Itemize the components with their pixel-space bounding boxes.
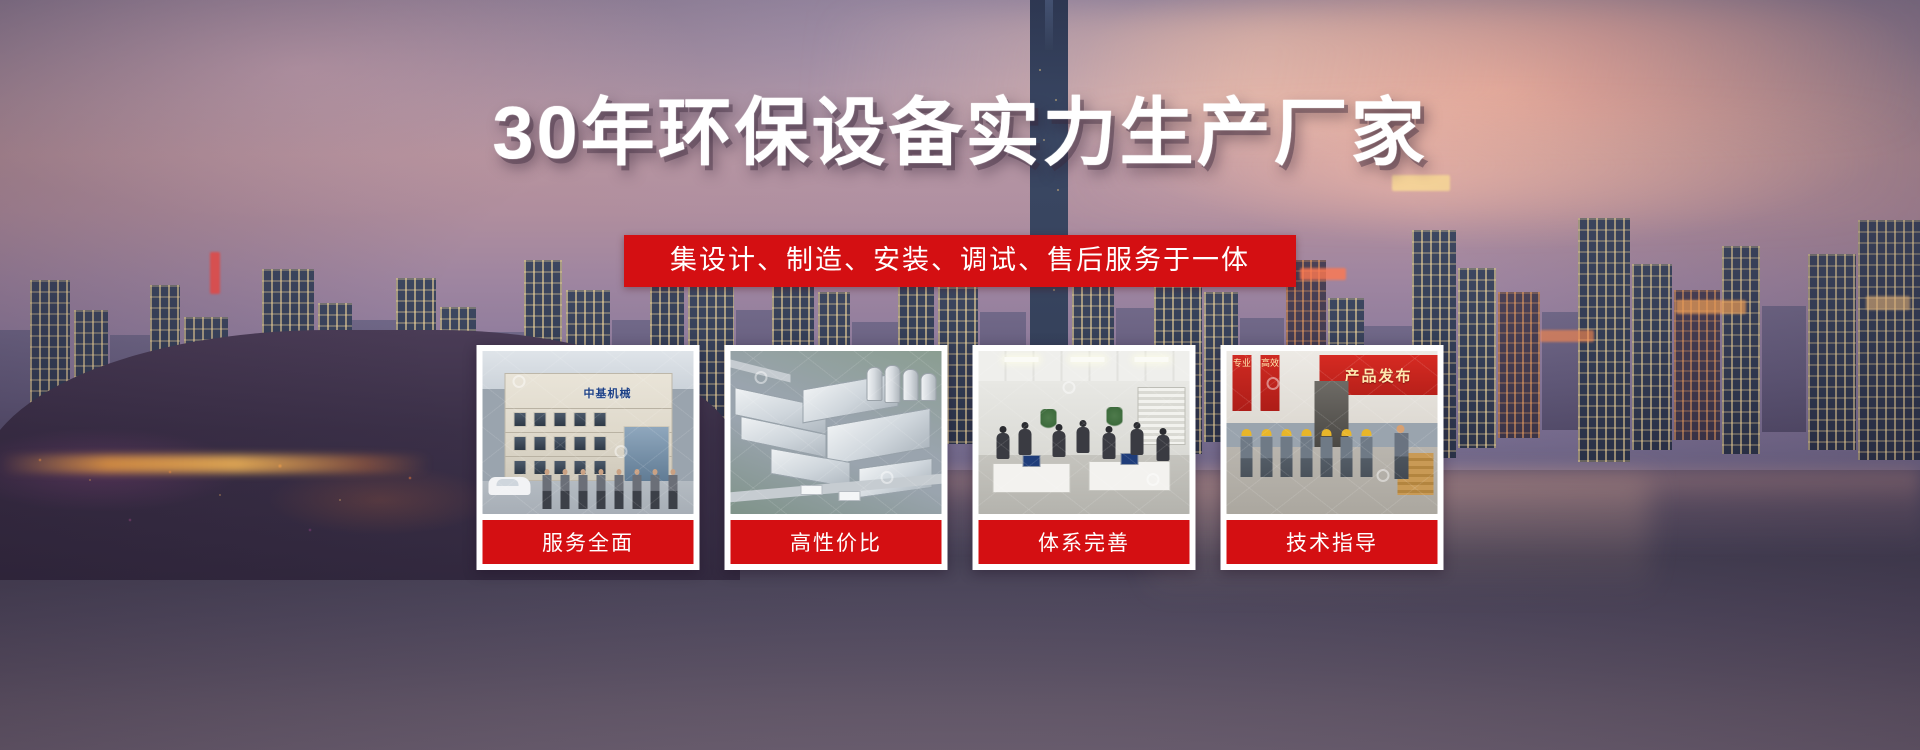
card-photo-factory-workers: 产品发布 专业 高效 — [1227, 351, 1438, 514]
bridge-lights — [0, 455, 430, 473]
vertical-banner-left: 专业 — [1233, 355, 1252, 411]
feature-card-list: 中基机械 — [477, 345, 1444, 570]
card-label-value: 高性价比 — [731, 520, 942, 564]
feature-card-service[interactable]: 中基机械 — [477, 345, 700, 570]
page-title: 30年环保设备实力生产厂家 — [0, 96, 1920, 170]
building-sign-label: 中基机械 — [562, 386, 654, 399]
vertical-banner-right: 高效 — [1261, 355, 1280, 411]
feature-card-technical[interactable]: 产品发布 专业 高效 技术指导 — [1221, 345, 1444, 570]
card-photo-aerial-plant — [731, 351, 942, 514]
feature-card-system[interactable]: 体系完善 — [973, 345, 1196, 570]
card-photo-office-meeting — [979, 351, 1190, 514]
subtitle-ribbon: 集设计、制造、安装、调试、售后服务于一体 — [624, 235, 1296, 287]
card-label-system: 体系完善 — [979, 520, 1190, 564]
hero-banner: 30年环保设备实力生产厂家 集设计、制造、安装、调试、售后服务于一体 中基机械 — [0, 0, 1920, 750]
card-photo-office-building: 中基机械 — [483, 351, 694, 514]
card-label-technical: 技术指导 — [1227, 520, 1438, 564]
feature-card-value[interactable]: 高性价比 — [725, 345, 948, 570]
card-label-service: 服务全面 — [483, 520, 694, 564]
